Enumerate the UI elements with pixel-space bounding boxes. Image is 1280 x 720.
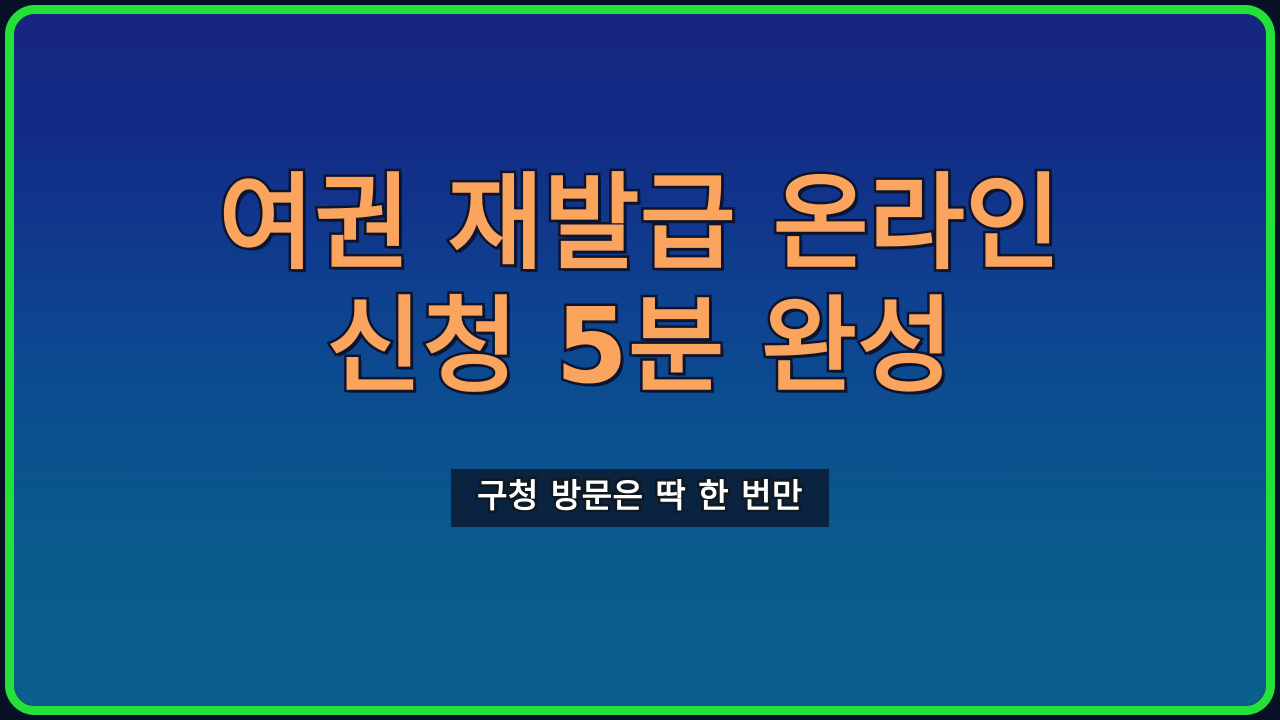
headline: 여권 재발급 온라인 신청 5분 완성 [14, 162, 1266, 407]
headline-line-1: 여권 재발급 온라인 [14, 162, 1266, 285]
content-stack: 여권 재발급 온라인 신청 5분 완성 구청 방문은 딱 한 번만 [14, 14, 1266, 706]
thumbnail-card: 여권 재발급 온라인 신청 5분 완성 구청 방문은 딱 한 번만 [0, 0, 1280, 720]
headline-line-2: 신청 5분 완성 [14, 285, 1266, 408]
subtitle-chip: 구청 방문은 딱 한 번만 [451, 469, 829, 527]
subtitle-text: 구청 방문은 딱 한 번만 [477, 476, 803, 515]
